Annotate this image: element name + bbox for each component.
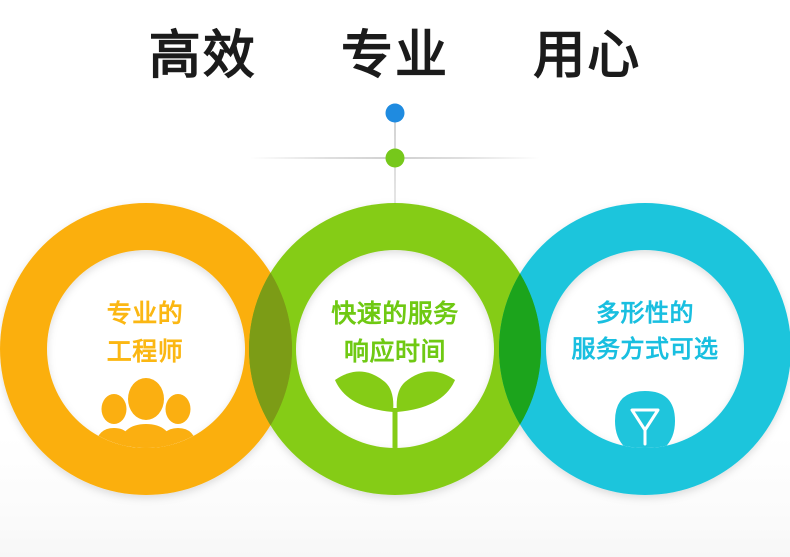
poster-canvas: 高效 专业 用心: [0, 0, 790, 557]
ring-flexible[interactable]: [0, 0, 790, 557]
venn-rings-group: [0, 0, 790, 557]
